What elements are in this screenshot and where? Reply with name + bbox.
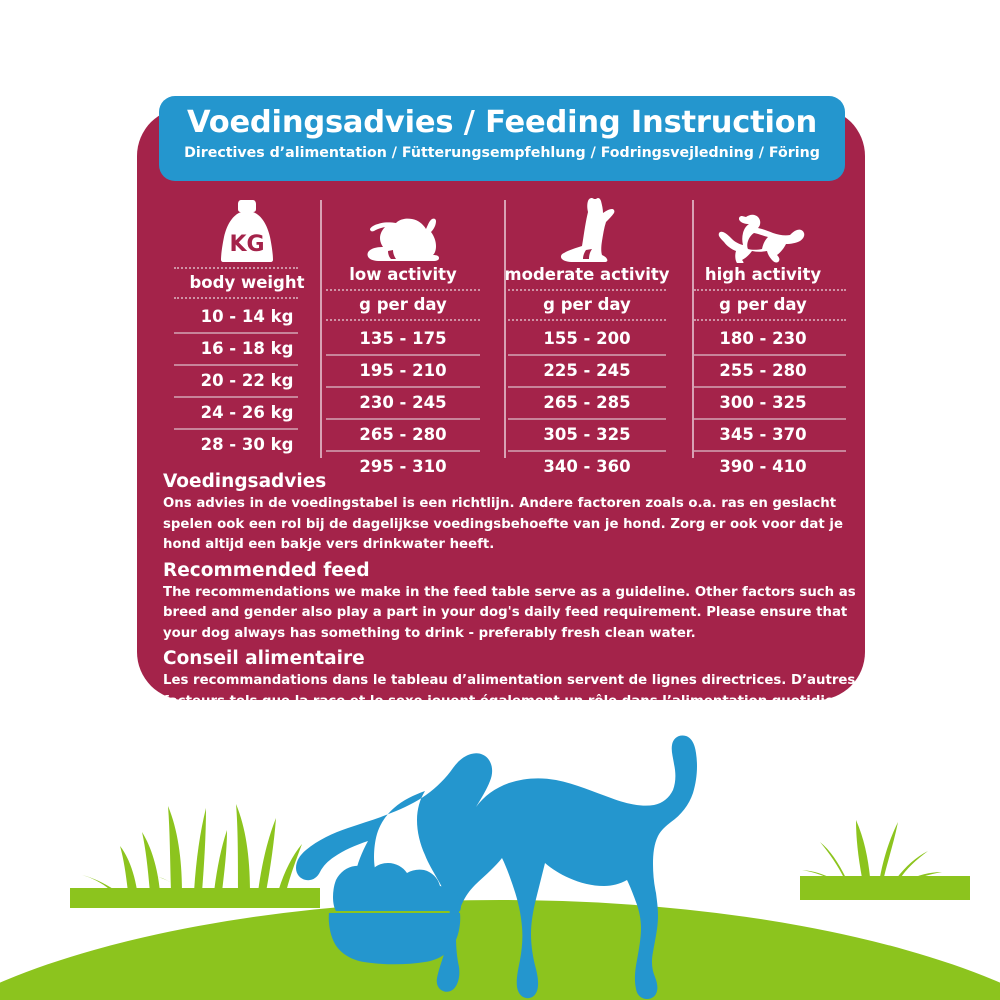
divider [174,297,298,299]
grass-tuft-icon [800,820,970,900]
table-cell: 195 - 210 [312,356,494,386]
divider [694,319,846,321]
table-column-high-activity: high activity g per day 180 - 230 255 - … [680,196,860,466]
column-divider [320,200,322,458]
page-title: Voedingsadvies / Feeding Instruction [159,104,845,142]
feeding-table: KG body weight 10 - 14 kg 16 - 18 kg 20 … [160,196,860,466]
advice-heading: Voedingsadvies [163,470,863,494]
column-title: moderate activity [494,264,680,286]
table-column-low-activity: low activity g per day 135 - 175 195 - 2… [312,196,494,466]
column-divider [504,200,506,458]
dog-running-icon [680,196,860,264]
kg-weight-icon: KG [160,196,312,264]
advice-heading: Recommended feed [163,559,863,583]
advice-body: The recommendations we make in the feed … [163,583,863,645]
column-title: high activity [680,264,860,286]
advice-body: Les recommandations dans le tableau d’al… [163,671,863,753]
advice-block-fr: Conseil alimentaire Les recommandations … [163,647,863,753]
divider [326,319,480,321]
table-cell: 180 - 230 [680,324,860,354]
table-cell: 10 - 14 kg [160,302,312,332]
divider [326,289,480,291]
advice-body: Ons advies in de voedingstabel is een ri… [163,494,863,556]
column-unit: g per day [312,294,494,316]
grass-tuft-icon [70,804,320,908]
divider [694,289,846,291]
table-cell: 24 - 26 kg [160,398,312,428]
table-cell: 265 - 280 [312,420,494,450]
table-cell: 155 - 200 [494,324,680,354]
advice-block-en: Recommended feed The recommendations we … [163,559,863,645]
column-unit: g per day [680,294,860,316]
dog-sitting-icon [494,196,680,264]
table-cell: 345 - 370 [680,420,860,450]
column-unit: g per day [494,294,680,316]
table-cell: 230 - 245 [312,388,494,418]
divider [174,267,298,269]
dog-lying-icon [312,196,494,264]
table-cell: 265 - 285 [494,388,680,418]
column-divider [692,200,694,458]
header-banner: Voedingsadvies / Feeding Instruction Dir… [159,96,845,181]
table-cell: 135 - 175 [312,324,494,354]
divider [508,319,666,321]
table-cell: 28 - 30 kg [160,430,312,460]
svg-text:KG: KG [229,232,264,257]
advice-section: Voedingsadvies Ons advies in de voedings… [163,470,863,756]
table-column-body-weight: KG body weight 10 - 14 kg 16 - 18 kg 20 … [160,196,312,466]
advice-block-nl: Voedingsadvies Ons advies in de voedings… [163,470,863,556]
table-cell: 225 - 245 [494,356,680,386]
table-cell: 20 - 22 kg [160,366,312,396]
label-artwork: Voedingsadvies / Feeding Instruction Dir… [0,0,1000,1000]
table-cell: 255 - 280 [680,356,860,386]
table-column-moderate-activity: moderate activity g per day 155 - 200 22… [494,196,680,466]
table-cell: 305 - 325 [494,420,680,450]
table-cell: 300 - 325 [680,388,860,418]
advice-heading: Conseil alimentaire [163,647,863,671]
page-subtitle: Directives d’alimentation / Fütterungsem… [159,143,845,163]
column-unit: body weight [160,272,312,294]
green-hill [0,900,1000,1000]
divider [508,289,666,291]
table-cell: 16 - 18 kg [160,334,312,364]
column-title: low activity [312,264,494,286]
